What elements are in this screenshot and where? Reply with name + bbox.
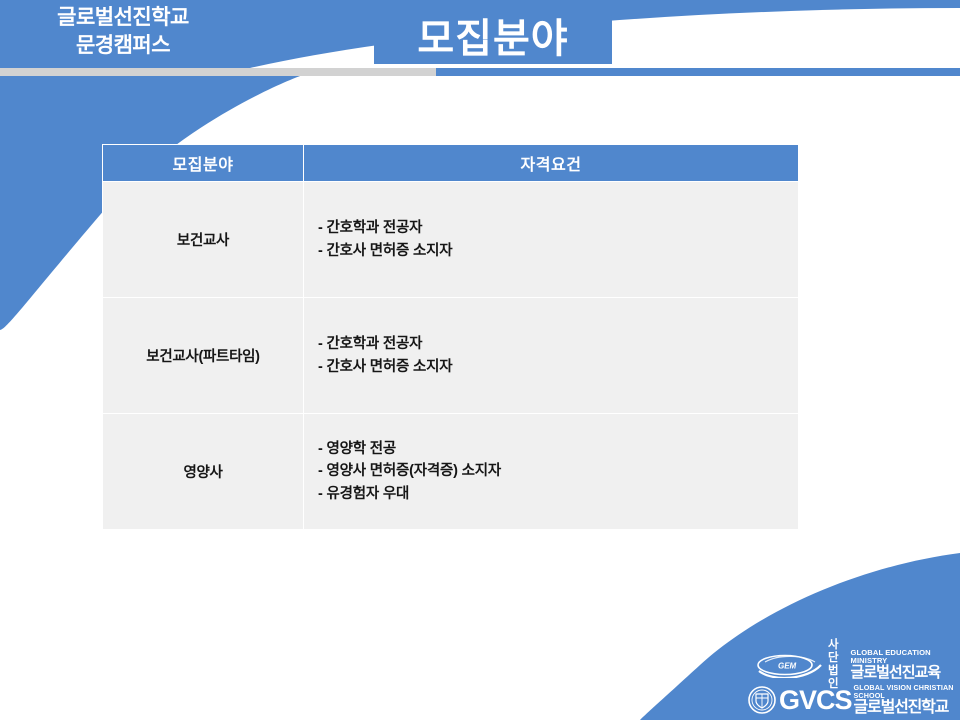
table-row: 보건교사(파트타임) - 간호학과 전공자 - 간호사 면허증 소지자	[103, 298, 799, 414]
gem-emblem-icon: GEM	[757, 652, 823, 678]
requirement-line: - 간호학과 전공자	[318, 333, 797, 355]
requirement-line: - 영양사 면허증(자격증) 소지자	[318, 460, 797, 482]
gvcs-english-name: GLOBAL VISION CHRISTIAN SCHOOL	[854, 684, 960, 700]
page-title-box: 모집분야	[374, 14, 612, 64]
cell-field: 영양사	[103, 414, 304, 530]
table-row: 영양사 - 영양학 전공 - 영양사 면허증(자격증) 소지자 - 유경험자 우…	[103, 414, 799, 530]
cell-requirements: - 간호학과 전공자 - 간호사 면허증 소지자	[304, 298, 799, 414]
divider-blue	[436, 68, 960, 76]
gvcs-crest-icon	[748, 686, 776, 714]
table-body: 보건교사 - 간호학과 전공자 - 간호사 면허증 소지자 보건교사(파트타임)…	[103, 182, 799, 530]
requirement-line: - 간호학과 전공자	[318, 217, 797, 239]
divider-gray	[0, 68, 436, 76]
cell-field: 보건교사(파트타임)	[103, 298, 304, 414]
gem-korean-name: 글로벌선진교육	[851, 665, 960, 681]
recruitment-table: 모집분야 자격요건 보건교사 - 간호학과 전공자 - 간호사 면허증 소지자 …	[102, 144, 799, 530]
gvcs-korean-name: 글로벌선진학교	[854, 700, 960, 717]
requirement-line: - 간호사 면허증 소지자	[318, 240, 797, 262]
requirement-line: - 유경험자 우대	[318, 483, 797, 505]
gem-korean-prefix: 사단 법인	[828, 639, 847, 691]
svg-text:GEM: GEM	[778, 661, 797, 670]
slide-canvas: 글로벌선진학교 문경캠퍼스 모집분야 모집분야 자격요건 보건교사 - 간호학과…	[0, 0, 960, 720]
gvcs-logo: GVCS GLOBAL VISION CHRISTIAN SCHOOL 글로벌선…	[748, 684, 960, 717]
table-row: 보건교사 - 간호학과 전공자 - 간호사 면허증 소지자	[103, 182, 799, 298]
requirement-line: - 간호사 면허증 소지자	[318, 356, 797, 378]
column-header-field: 모집분야	[103, 145, 304, 182]
column-header-requirements: 자격요건	[304, 145, 799, 182]
gvcs-acronym: GVCS	[779, 687, 852, 714]
page-title: 모집분야	[417, 19, 568, 59]
table-header-row: 모집분야 자격요건	[103, 145, 799, 182]
gem-english-name: GLOBAL EDUCATION MINISTRY	[851, 649, 960, 666]
cell-requirements: - 간호학과 전공자 - 간호사 면허증 소지자	[304, 182, 799, 298]
cell-requirements: - 영양학 전공 - 영양사 면허증(자격증) 소지자 - 유경험자 우대	[304, 414, 799, 530]
cell-field: 보건교사	[103, 182, 304, 298]
requirement-line: - 영양학 전공	[318, 438, 797, 460]
school-name: 글로벌선진학교 문경캠퍼스	[8, 4, 238, 59]
